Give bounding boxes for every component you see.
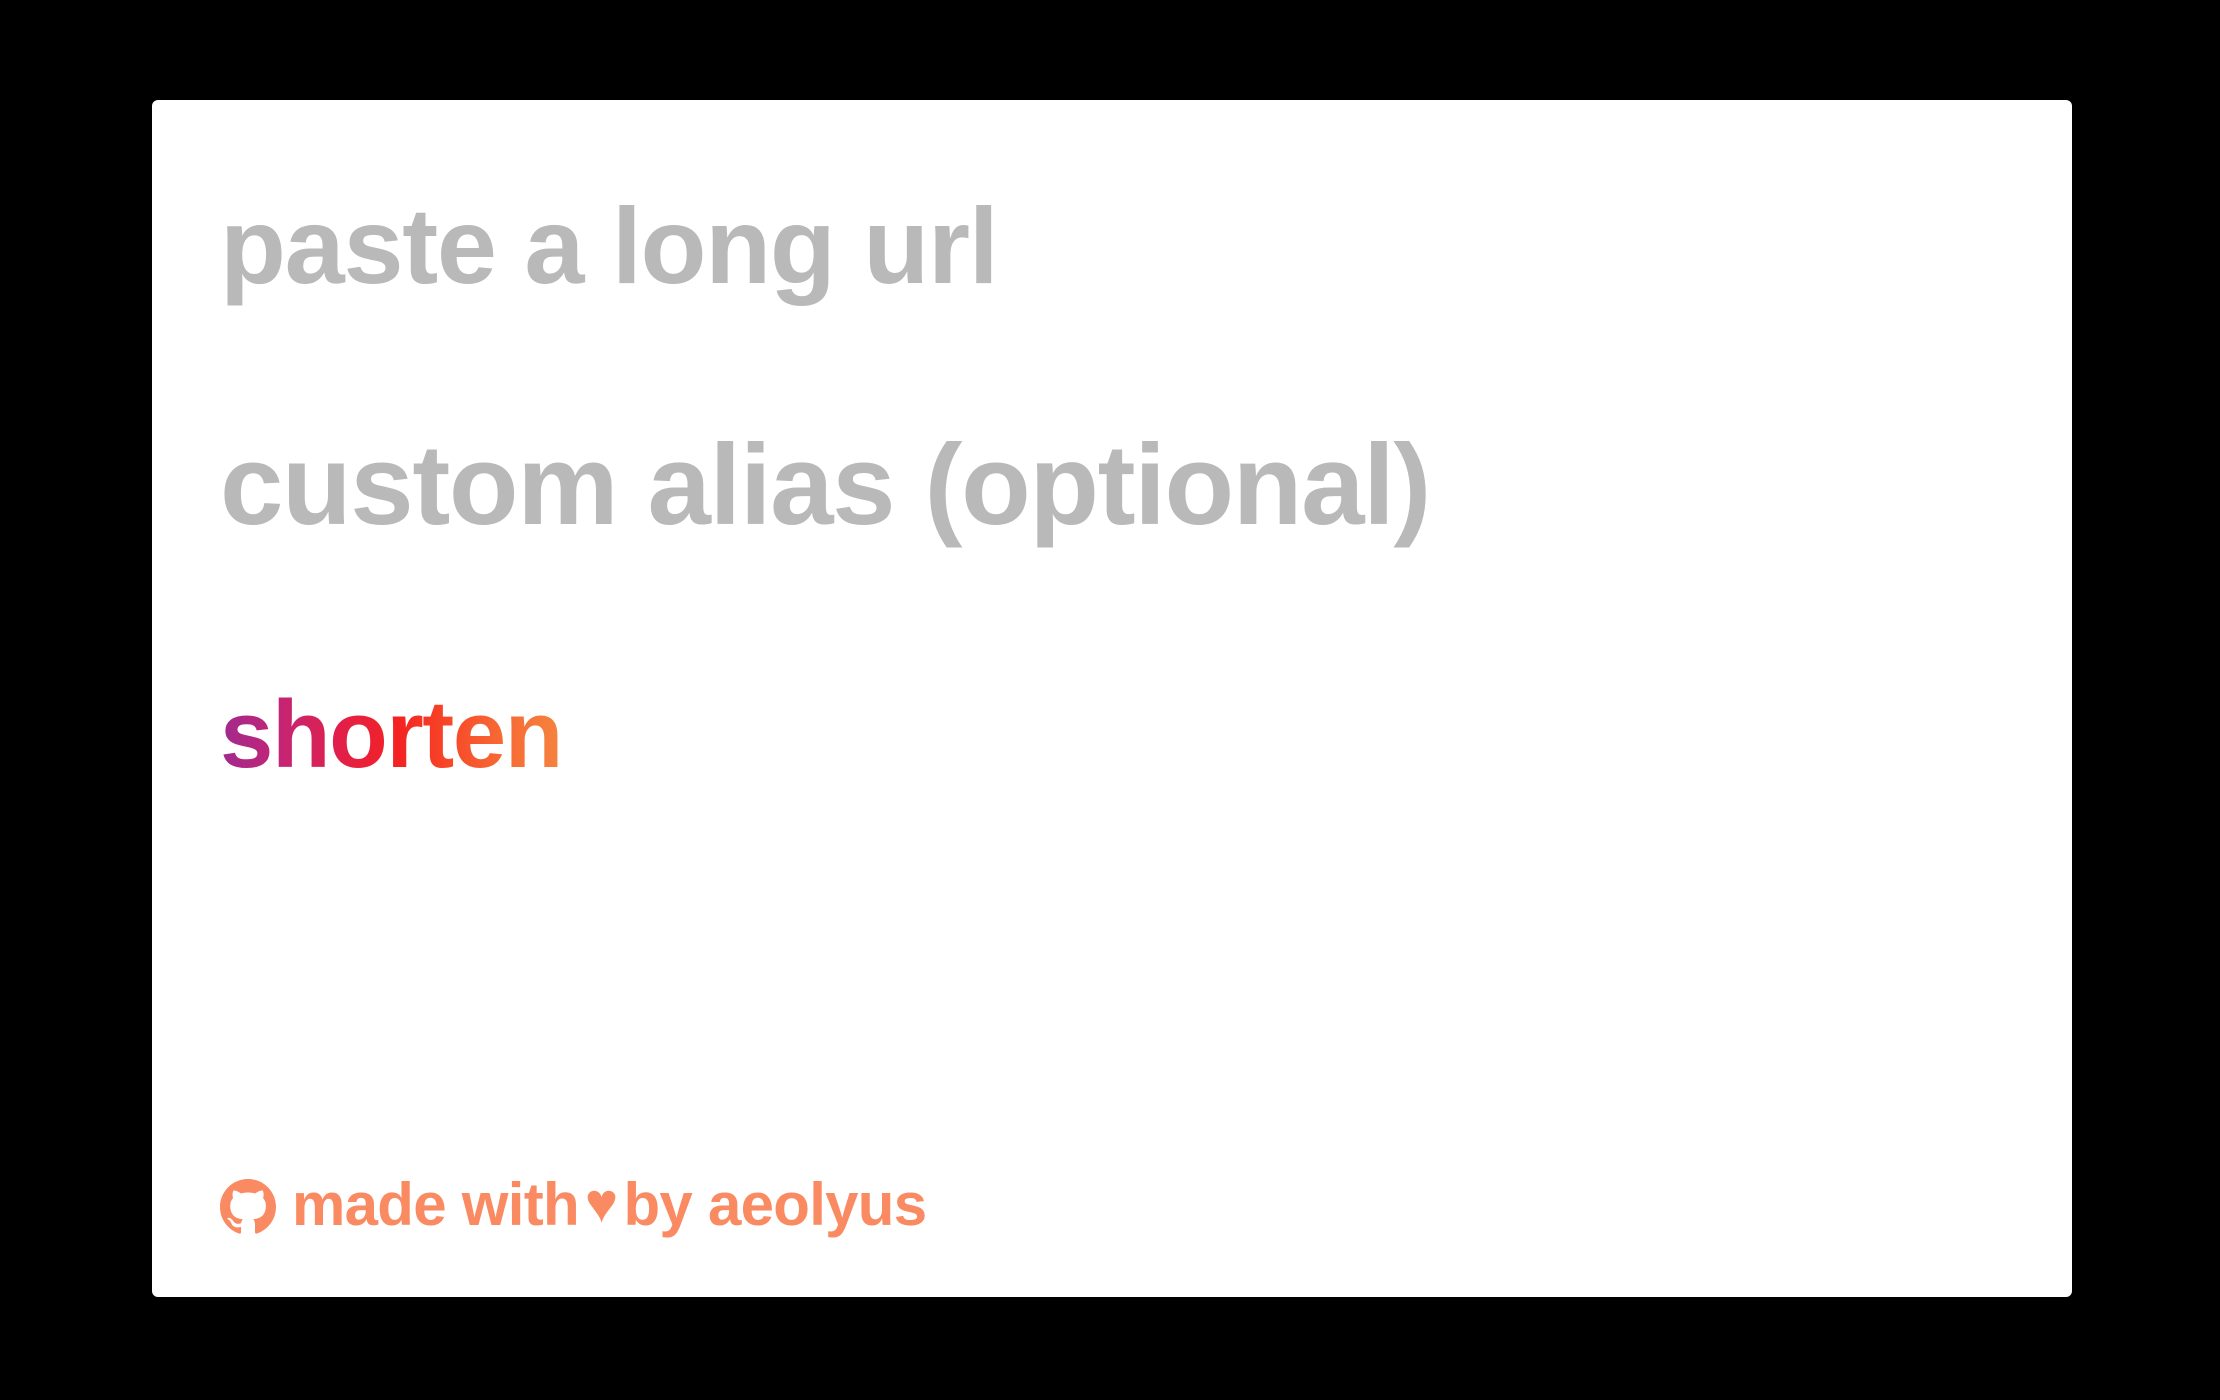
footer-credit-text: made with ♥ by aeolyus: [292, 1175, 926, 1235]
github-icon: [220, 1179, 276, 1235]
shorten-button[interactable]: shorten: [220, 685, 562, 786]
app-root: shorten made with ♥ by aeolyus: [0, 0, 2220, 1400]
footer-text-before: made with: [292, 1175, 579, 1235]
url-shortener-card: shorten made with ♥ by aeolyus: [152, 100, 2072, 1297]
submit-row: shorten: [220, 670, 562, 800]
footer-text-after: by aeolyus: [623, 1175, 926, 1235]
footer-credit-link[interactable]: made with ♥ by aeolyus: [220, 1175, 926, 1235]
url-field-row: [220, 170, 2020, 320]
alias-field-row: [220, 405, 2020, 565]
url-input[interactable]: [220, 183, 2020, 308]
heart-icon: ♥: [579, 1175, 624, 1231]
custom-alias-input[interactable]: [220, 420, 2020, 551]
